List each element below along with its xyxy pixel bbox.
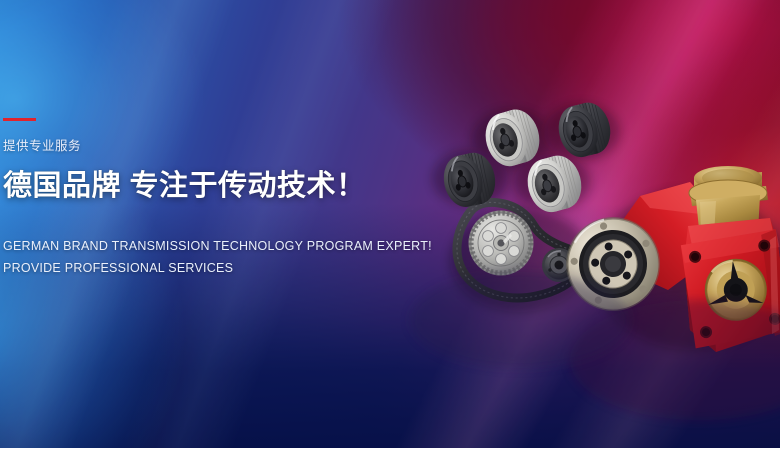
timing-belt-sprocket-assembly (457, 202, 580, 298)
bottom-edge-strip (0, 448, 780, 452)
banner-subline-1: GERMAN BRAND TRANSMISSION TECHNOLOGY PRO… (3, 235, 433, 257)
timing-pulley-dark-top-right (553, 98, 615, 161)
accent-bar (3, 118, 36, 121)
banner-copy: 提供专业服务 德国品牌 专注于传动技术！ GERMAN BRAND TRANSM… (3, 118, 433, 279)
promo-banner: 提供专业服务 德国品牌 专注于传动技术！ GERMAN BRAND TRANSM… (0, 0, 780, 452)
banner-eyebrow: 提供专业服务 (3, 140, 433, 153)
right-angle-gearbox-front (680, 166, 780, 352)
timing-pulley-silver-mid (522, 151, 587, 217)
banner-subline-2: PROVIDE PROFESSIONAL SERVICES (3, 257, 433, 279)
right-angle-gearbox-rear (556, 182, 712, 321)
timing-pulley-dark-left (439, 149, 500, 210)
banner-headline: 德国品牌 专注于传动技术！ (3, 171, 433, 202)
timing-pulley-silver-top (480, 105, 546, 172)
